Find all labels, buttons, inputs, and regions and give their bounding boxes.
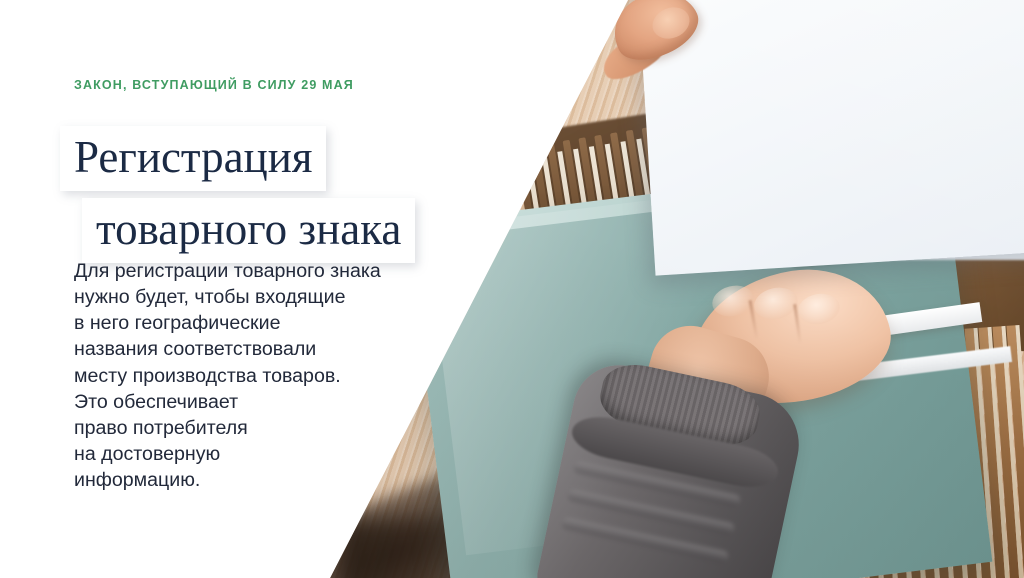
headline: Регистрация товарного знака: [60, 126, 480, 263]
eyebrow-label: ЗАКОН, ВСТУПАЮЩИЙ В СИЛУ 29 МАЯ: [74, 78, 354, 92]
body-paragraph: Для регистрации товарного знака нужно бу…: [74, 258, 454, 493]
headline-line-1: Регистрация: [60, 126, 326, 191]
headline-line-2: товарного знака: [82, 198, 415, 263]
promo-banner: ЗАКОН, ВСТУПАЮЩИЙ В СИЛУ 29 МАЯ Регистра…: [0, 0, 1024, 578]
